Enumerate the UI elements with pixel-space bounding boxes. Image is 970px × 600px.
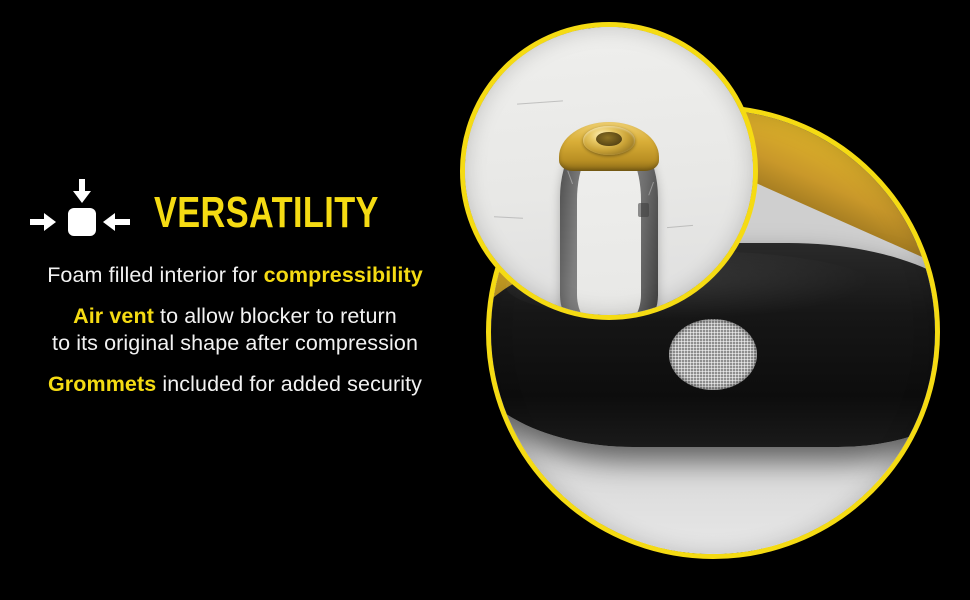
feature-highlight: Air vent xyxy=(73,304,154,328)
feature-text: to its original shape after compression xyxy=(52,331,418,355)
feature-line: Air vent to allow blocker to return xyxy=(0,303,470,330)
grommet-hole xyxy=(596,132,622,146)
grommet-image xyxy=(465,27,753,315)
feature-text-panel: VERSATILITY Foam filled interior for com… xyxy=(0,0,470,600)
feature-text: to allow blocker to return xyxy=(154,304,397,328)
feature-line: Foam filled interior for compressibility xyxy=(0,262,470,289)
arrow-left-shaft xyxy=(115,219,130,225)
feature-item-air-vent: Air vent to allow blocker to return to i… xyxy=(0,303,470,357)
page-title: VERSATILITY xyxy=(154,191,379,235)
feature-highlight: compressibility xyxy=(264,263,423,287)
compressed-block xyxy=(68,208,96,236)
arrow-down-head xyxy=(73,191,91,203)
promo-banner: VERSATILITY Foam filled interior for com… xyxy=(0,0,970,600)
photo-grommet-closeup xyxy=(460,22,758,320)
compress-arrows-icon xyxy=(28,177,132,249)
feature-text: Foam filled interior for xyxy=(47,263,263,287)
mesh-air-vent xyxy=(669,319,758,390)
arrow-left-head xyxy=(103,213,115,231)
feature-text: included for added security xyxy=(156,372,422,396)
feature-line: Grommets included for added security xyxy=(0,371,470,398)
feature-item-compressibility: Foam filled interior for compressibility xyxy=(0,262,470,289)
product-photo-collage xyxy=(440,0,970,600)
headline-row: VERSATILITY xyxy=(0,176,470,250)
arrow-right-shaft xyxy=(30,219,45,225)
feature-highlight: Grommets xyxy=(48,372,156,396)
label-tag xyxy=(638,203,650,217)
feature-item-grommets: Grommets included for added security xyxy=(0,371,470,398)
feature-list: Foam filled interior for compressibility… xyxy=(0,262,470,412)
arrow-right-head xyxy=(44,213,56,231)
feature-line: to its original shape after compression xyxy=(0,330,470,357)
